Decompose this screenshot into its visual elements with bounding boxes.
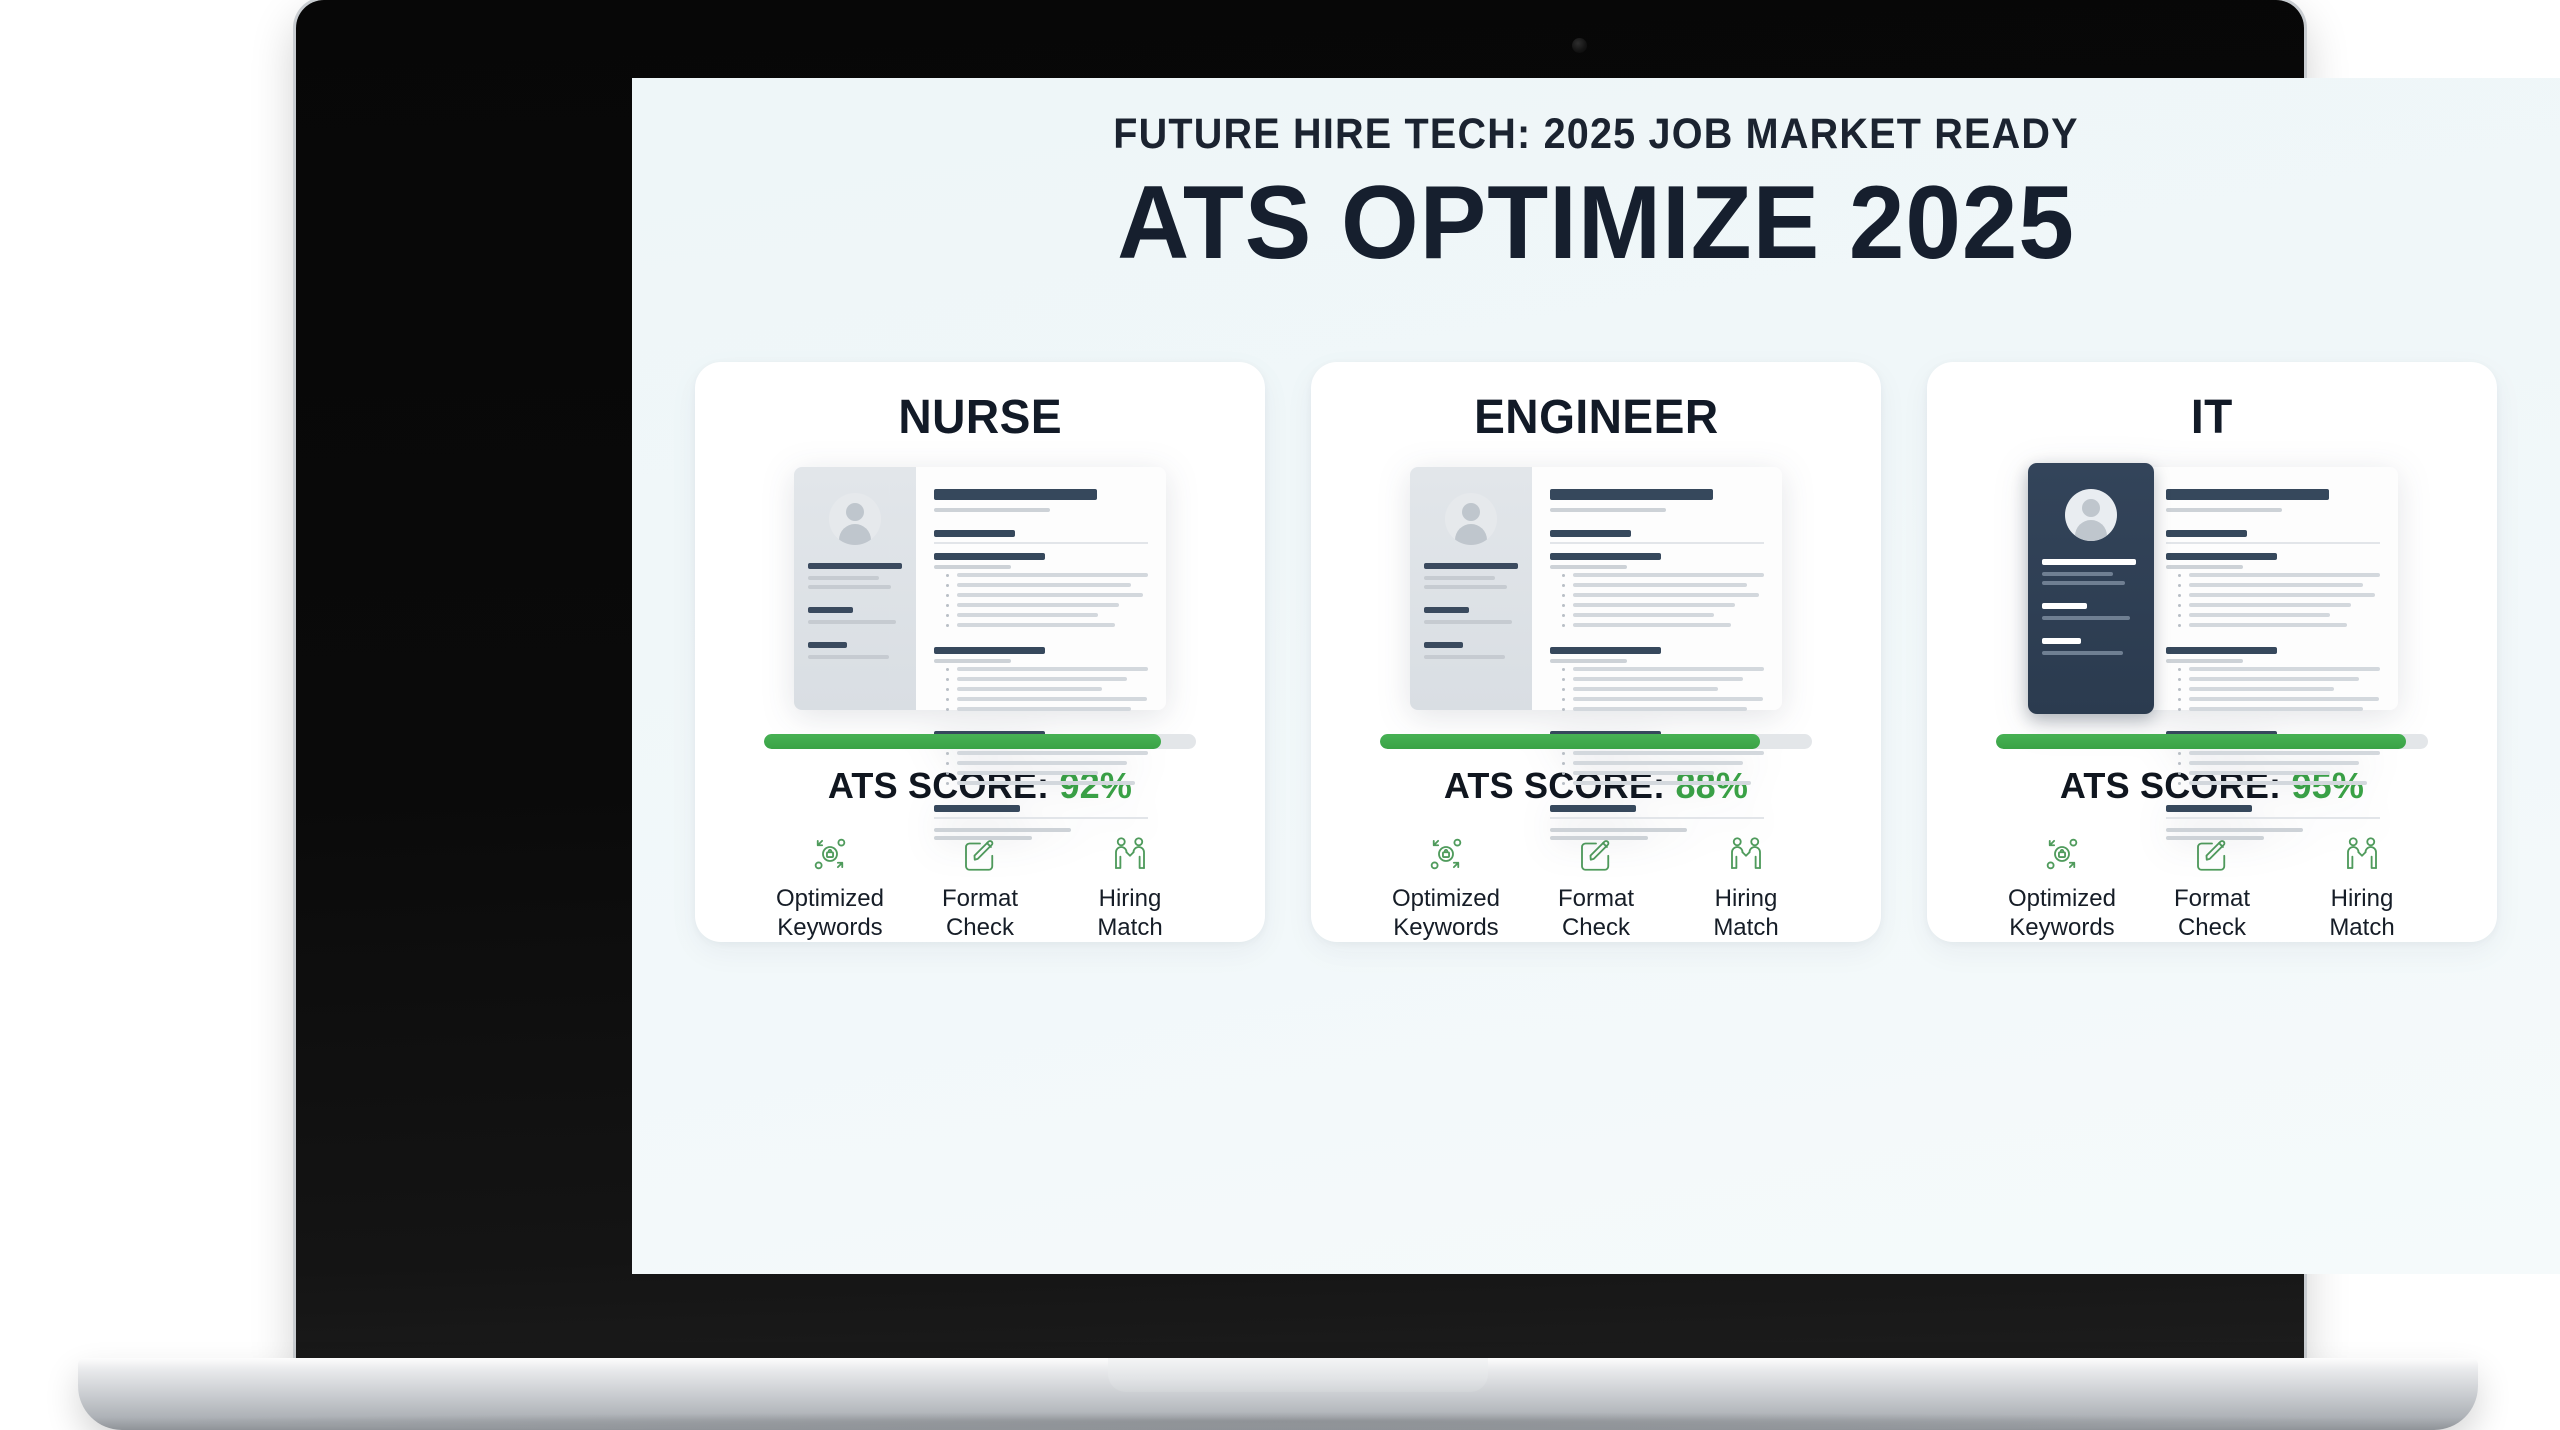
resume-bullet-line (1573, 613, 1714, 617)
resume-bullet-row (934, 593, 1148, 597)
resume-bullet-dot (2178, 708, 2181, 711)
resume-bullet-line (1573, 603, 1735, 607)
resume-text-line (2166, 647, 2277, 654)
resume-bullet-line (1573, 761, 1743, 765)
resume-bullet-row (1550, 751, 1764, 755)
avatar-body-icon (2075, 520, 2107, 541)
resume-bullet-line (2189, 677, 2359, 681)
resume-bullet-line (957, 707, 1131, 711)
avatar-body-icon (839, 524, 871, 545)
laptop-shadow (180, 1412, 2380, 1430)
resume-bullet-row (1550, 781, 1764, 785)
feature-label: Optimized Keywords (776, 885, 884, 942)
resume-text-line (934, 530, 1015, 537)
resume-line-gap (2166, 791, 2380, 805)
resume-bullet-line (2189, 603, 2351, 607)
card-title: NURSE (898, 390, 1062, 445)
resume-bullet-dot (2178, 698, 2181, 701)
resume-line-gap (2166, 516, 2380, 530)
resume-body-lines (2166, 489, 2380, 844)
webcam-icon (1572, 38, 1587, 53)
resume-line-gap (934, 516, 1148, 530)
resume-bullet-line (2189, 751, 2380, 755)
resume-text-line (934, 542, 1148, 544)
resume-bullet-line (2189, 707, 2363, 711)
feature-label: Format Check (942, 885, 1018, 942)
resume-text-line (1550, 489, 1713, 500)
card-title: ENGINEER (1474, 390, 1719, 445)
resume-text-line (1550, 828, 1687, 832)
resume-bullet-line (957, 583, 1131, 587)
resume-bullet-row (1550, 603, 1764, 607)
resume-text-line (934, 508, 1050, 512)
resume-bullet-dot (2178, 584, 2181, 587)
resume-text-line (808, 607, 853, 613)
resume-text-line (934, 659, 1011, 663)
resume-bullet-dot (2178, 594, 2181, 597)
resume-text-line (1550, 508, 1666, 512)
eyebrow-text: FUTURE HIRE TECH: 2025 JOB MARKET READY (709, 110, 2483, 159)
feature-item[interactable]: Hiring Match (2292, 831, 2432, 942)
resume-bullet-line (1573, 697, 1763, 701)
resume-bullet-dot (1562, 624, 1565, 627)
resume-text-line (934, 489, 1097, 500)
feature-label: Hiring Match (1713, 885, 1778, 942)
ats-score-progress-bar (1380, 734, 1812, 750)
resume-text-line (1550, 542, 1764, 544)
ats-score-progress-fill (1996, 734, 2406, 750)
resume-bullet-dot (946, 584, 949, 587)
avatar-body-icon (1455, 524, 1487, 545)
resume-preview[interactable] (1410, 467, 1782, 710)
resume-bullet-line (1573, 573, 1764, 577)
card-title: IT (2191, 390, 2233, 445)
resume-bullet-row (2166, 623, 2380, 627)
resume-bullet-dot (946, 668, 949, 671)
resume-bullet-row (1550, 613, 1764, 617)
resume-bullet-line (957, 677, 1127, 681)
resume-text-line (2166, 553, 2277, 560)
feature-label: Hiring Match (1097, 885, 1162, 942)
feature-label: Hiring Match (2329, 885, 2394, 942)
resume-line-gap (934, 717, 1148, 731)
resume-bullet-line (957, 761, 1127, 765)
resume-text-line (934, 565, 1011, 569)
resume-bullet-row (1550, 761, 1764, 765)
feature-item[interactable]: Optimized Keywords (1376, 831, 1516, 942)
resume-bullet-row (934, 761, 1148, 765)
resume-text-line (2042, 572, 2113, 576)
laptop-base-notch (1108, 1358, 1488, 1392)
resume-body (916, 467, 1166, 710)
resume-text-line (2042, 638, 2081, 644)
resume-bullet-row (934, 781, 1148, 785)
resume-bullet-dot (1562, 708, 1565, 711)
resume-bullet-line (2189, 771, 2330, 775)
resume-bullet-dot (2178, 624, 2181, 627)
feature-list: Optimized KeywordsFormat CheckHiring Mat… (1376, 831, 1816, 942)
resume-line-gap (2166, 717, 2380, 731)
ats-score-progress-fill (1380, 734, 1760, 750)
feature-label: Format Check (2174, 885, 2250, 942)
resume-bullet-line (957, 771, 1098, 775)
resume-text-line (1550, 647, 1661, 654)
resume-text-line (808, 642, 847, 648)
resume-bullet-row (2166, 667, 2380, 671)
feature-label: Format Check (1558, 885, 1634, 942)
resume-bullet-dot (946, 708, 949, 711)
resume-bullet-dot (946, 604, 949, 607)
resume-bullet-row (2166, 707, 2380, 711)
resume-text-line (2166, 530, 2247, 537)
resume-bullet-row (934, 667, 1148, 671)
resume-bullet-row (2166, 751, 2380, 755)
resume-bullet-row (1550, 583, 1764, 587)
resume-bullet-line (2189, 573, 2380, 577)
resume-bullet-row (1550, 687, 1764, 691)
resume-text-line (808, 585, 891, 589)
resume-preview[interactable] (2026, 467, 2398, 710)
resume-text-line (2166, 817, 2380, 819)
resume-text-line (2166, 659, 2243, 663)
resume-bullet-dot (946, 614, 949, 617)
resume-bullet-line (1573, 771, 1714, 775)
resume-bullet-dot (1562, 668, 1565, 671)
resume-line-gap (934, 633, 1148, 647)
avatar (2065, 489, 2117, 541)
resume-bullet-row (2166, 771, 2380, 775)
resume-bullet-row (1550, 623, 1764, 627)
resume-bullet-dot (946, 574, 949, 577)
resume-text-line (934, 828, 1071, 832)
resume-bullet-dot (2178, 688, 2181, 691)
resume-sidebar (2028, 463, 2154, 714)
laptop-mockup: FUTURE HIRE TECH: 2025 JOB MARKET READY … (0, 0, 2560, 1429)
feature-item[interactable]: Format Check (910, 831, 1050, 942)
resume-text-line (934, 805, 1020, 812)
resume-bullet-line (2189, 781, 2367, 785)
resume-text-line (1550, 530, 1631, 537)
resume-bullet-dot (1562, 762, 1565, 765)
resume-bullet-dot (1562, 584, 1565, 587)
resume-bullet-dot (2178, 614, 2181, 617)
resume-bullet-row (1550, 771, 1764, 775)
avatar-head-icon (2082, 499, 2100, 517)
resume-bullet-row (2166, 781, 2380, 785)
resume-bullet-row (2166, 613, 2380, 617)
resume-bullet-row (1550, 593, 1764, 597)
resume-text-line (1424, 576, 1495, 580)
resume-bullet-dot (1562, 604, 1565, 607)
resume-bullet-dot (1562, 688, 1565, 691)
resume-bullet-line (1573, 623, 1731, 627)
resume-text-line (1550, 565, 1627, 569)
resume-line-gap (808, 629, 902, 642)
resume-text-line (2166, 805, 2252, 812)
resume-bullet-row (2166, 697, 2380, 701)
page-title: ATS OPTIMIZE 2025 (671, 164, 2522, 283)
avatar-head-icon (846, 503, 864, 521)
resume-bullet-row (2166, 761, 2380, 765)
resume-bullet-line (957, 573, 1148, 577)
resume-bullet-line (1573, 707, 1747, 711)
laptop-lid: FUTURE HIRE TECH: 2025 JOB MARKET READY … (296, 0, 2304, 1368)
avatar (829, 493, 881, 545)
resume-text-line (2166, 508, 2282, 512)
resume-line-gap (2042, 625, 2136, 638)
resume-bullet-line (957, 687, 1102, 691)
resume-bullet-line (2189, 613, 2330, 617)
resume-text-line (1550, 805, 1636, 812)
resume-bullet-row (2166, 687, 2380, 691)
resume-bullet-line (1573, 593, 1759, 597)
resume-bullet-line (2189, 697, 2379, 701)
resume-bullet-dot (946, 688, 949, 691)
resume-bullet-line (957, 667, 1148, 671)
resume-text-line (1424, 607, 1469, 613)
resume-bullet-dot (946, 782, 949, 785)
resume-bullet-dot (1562, 614, 1565, 617)
resume-bullet-dot (946, 762, 949, 765)
role-card-nurse[interactable]: NURSEATS SCORE: 92%Optimized KeywordsFor… (695, 362, 1265, 942)
resume-bullet-dot (946, 772, 949, 775)
resume-bullet-line (2189, 761, 2359, 765)
resume-text-line (1424, 563, 1518, 569)
resume-bullet-dot (2178, 762, 2181, 765)
feature-label: Optimized Keywords (2008, 885, 2116, 942)
resume-body-lines (934, 489, 1148, 844)
resume-bullet-dot (2178, 668, 2181, 671)
resume-bullet-dot (1562, 574, 1565, 577)
resume-bullet-row (934, 697, 1148, 701)
avatar-head-icon (1462, 503, 1480, 521)
resume-text-line (934, 817, 1148, 819)
resume-text-line (2166, 836, 2264, 840)
resume-bullet-row (934, 677, 1148, 681)
resume-text-line (934, 647, 1045, 654)
resume-text-line (2166, 828, 2303, 832)
resume-bullet-line (2189, 583, 2363, 587)
resume-text-line (2166, 565, 2243, 569)
resume-sidebar-lines (808, 563, 902, 664)
resume-bullet-line (1573, 667, 1764, 671)
resume-bullet-row (1550, 707, 1764, 711)
resume-bullet-dot (946, 594, 949, 597)
resume-bullet-row (934, 623, 1148, 627)
resume-text-line (1550, 553, 1661, 560)
resume-body-lines (1550, 489, 1764, 844)
resume-bullet-line (957, 593, 1143, 597)
resume-bullet-dot (1562, 782, 1565, 785)
resume-bullet-dot (2178, 782, 2181, 785)
feature-item[interactable]: Format Check (2142, 831, 2282, 942)
ats-score-progress-bar (1996, 734, 2428, 750)
feature-item[interactable]: Hiring Match (1676, 831, 1816, 942)
feature-list: Optimized KeywordsFormat CheckHiring Mat… (760, 831, 1200, 942)
resume-text-line (2166, 489, 2329, 500)
resume-text-line (934, 836, 1032, 840)
resume-bullet-row (2166, 583, 2380, 587)
card-grid: NURSEATS SCORE: 92%Optimized KeywordsFor… (695, 362, 2497, 942)
resume-text-line (2042, 559, 2136, 565)
resume-line-gap (1424, 629, 1518, 642)
resume-bullet-row (1550, 697, 1764, 701)
resume-bullet-line (957, 781, 1135, 785)
resume-bullet-line (957, 751, 1148, 755)
resume-line-gap (808, 594, 902, 607)
resume-bullet-dot (946, 678, 949, 681)
resume-bullet-row (934, 687, 1148, 691)
resume-bullet-row (934, 771, 1148, 775)
role-card-it[interactable]: ITATS SCORE: 95%Optimized KeywordsFormat… (1927, 362, 2497, 942)
resume-bullet-row (934, 707, 1148, 711)
ats-score-progress-bar (764, 734, 1196, 750)
optimized-keywords-icon (2041, 831, 2083, 877)
resume-sidebar-lines (2042, 559, 2136, 660)
role-card-engineer[interactable]: ENGINEERATS SCORE: 88%Optimized Keywords… (1311, 362, 1881, 942)
resume-body (2148, 467, 2398, 710)
resume-text-line (808, 655, 889, 659)
page-content: FUTURE HIRE TECH: 2025 JOB MARKET READY … (632, 78, 2560, 1274)
resume-sidebar (1410, 467, 1532, 710)
resume-bullet-line (1573, 751, 1764, 755)
resume-bullet-row (934, 613, 1148, 617)
resume-sidebar-lines (1424, 563, 1518, 664)
resume-text-line (2042, 616, 2130, 620)
feature-item[interactable]: Hiring Match (1060, 831, 1200, 942)
resume-bullet-line (1573, 781, 1751, 785)
resume-bullet-dot (2178, 678, 2181, 681)
resume-line-gap (1424, 594, 1518, 607)
resume-bullet-dot (2178, 752, 2181, 755)
resume-text-line (934, 553, 1045, 560)
resume-bullet-row (1550, 667, 1764, 671)
resume-bullet-dot (2178, 574, 2181, 577)
resume-bullet-line (957, 623, 1115, 627)
resume-line-gap (1550, 717, 1764, 731)
resume-bullet-row (934, 603, 1148, 607)
resume-line-gap (1550, 791, 1764, 805)
resume-text-line (2042, 651, 2123, 655)
resume-text-line (1424, 585, 1507, 589)
laptop-screen: FUTURE HIRE TECH: 2025 JOB MARKET READY … (632, 78, 2560, 1274)
resume-bullet-dot (946, 752, 949, 755)
feature-label: Optimized Keywords (1392, 885, 1500, 942)
resume-bullet-line (2189, 687, 2334, 691)
resume-bullet-row (2166, 593, 2380, 597)
resume-text-line (1424, 655, 1505, 659)
resume-bullet-line (2189, 593, 2375, 597)
ats-score-progress-fill (764, 734, 1161, 750)
resume-text-line (1550, 817, 1764, 819)
resume-bullet-dot (2178, 772, 2181, 775)
resume-bullet-row (2166, 603, 2380, 607)
resume-text-line (808, 563, 902, 569)
resume-text-line (808, 620, 896, 624)
resume-bullet-line (2189, 623, 2347, 627)
resume-bullet-row (1550, 573, 1764, 577)
feature-item[interactable]: Optimized Keywords (1992, 831, 2132, 942)
resume-text-line (1424, 642, 1463, 648)
resume-bullet-row (2166, 677, 2380, 681)
resume-bullet-dot (2178, 604, 2181, 607)
resume-bullet-dot (946, 698, 949, 701)
resume-bullet-dot (1562, 594, 1565, 597)
resume-line-gap (2166, 633, 2380, 647)
feature-item[interactable]: Format Check (1526, 831, 1666, 942)
resume-bullet-row (934, 751, 1148, 755)
resume-text-line (808, 576, 879, 580)
resume-text-line (1424, 620, 1512, 624)
optimized-keywords-icon (809, 831, 851, 877)
resume-text-line (1550, 659, 1627, 663)
resume-text-line (1550, 836, 1648, 840)
resume-bullet-dot (1562, 678, 1565, 681)
resume-line-gap (934, 791, 1148, 805)
resume-bullet-line (1573, 687, 1718, 691)
feature-list: Optimized KeywordsFormat CheckHiring Mat… (1992, 831, 2432, 942)
resume-line-gap (2042, 590, 2136, 603)
resume-bullet-line (2189, 667, 2380, 671)
resume-line-gap (1550, 516, 1764, 530)
resume-bullet-row (2166, 573, 2380, 577)
resume-bullet-dot (1562, 772, 1565, 775)
resume-bullet-row (1550, 677, 1764, 681)
resume-text-line (2042, 581, 2125, 585)
resume-bullet-row (934, 583, 1148, 587)
resume-text-line (2166, 542, 2380, 544)
resume-bullet-line (957, 603, 1119, 607)
avatar (1445, 493, 1497, 545)
resume-bullet-dot (946, 624, 949, 627)
resume-bullet-dot (1562, 698, 1565, 701)
resume-bullet-line (1573, 677, 1743, 681)
resume-sidebar (794, 467, 916, 710)
resume-bullet-row (934, 573, 1148, 577)
feature-item[interactable]: Optimized Keywords (760, 831, 900, 942)
resume-text-line (2042, 603, 2087, 609)
resume-line-gap (1550, 633, 1764, 647)
optimized-keywords-icon (1425, 831, 1467, 877)
resume-bullet-line (1573, 583, 1747, 587)
resume-preview[interactable] (794, 467, 1166, 710)
resume-bullet-line (957, 697, 1147, 701)
resume-body (1532, 467, 1782, 710)
resume-bullet-dot (1562, 752, 1565, 755)
resume-bullet-line (957, 613, 1098, 617)
